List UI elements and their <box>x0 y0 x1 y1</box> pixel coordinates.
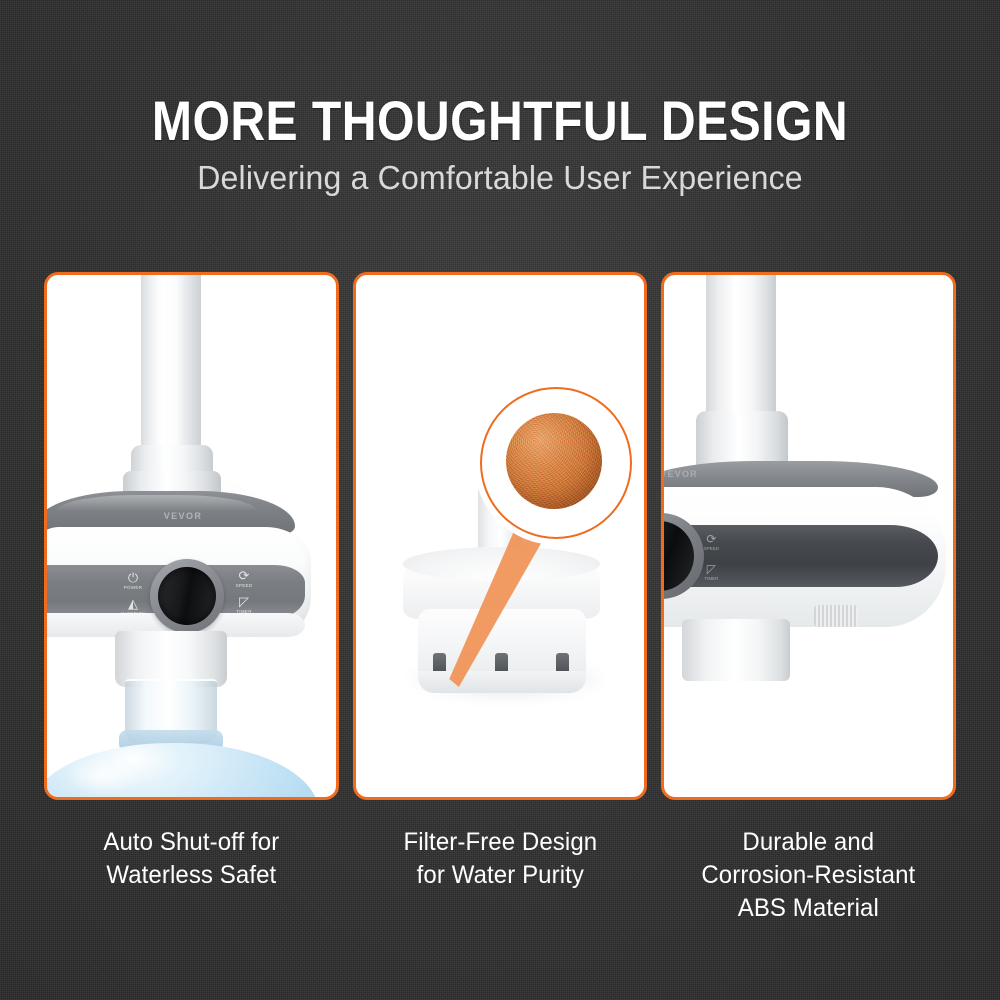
vent-grille <box>814 605 858 627</box>
page-subtitle: Delivering a Comfortable User Experience <box>15 159 985 197</box>
feature-panels: VEVOR ⏻ POWER ◭ HUMIDITY ⟳ SPEED <box>44 272 956 800</box>
power-label: POWER <box>116 585 150 591</box>
timer-label: TIMER <box>696 576 726 582</box>
speed-icon: ⟳ SPEED <box>227 569 261 589</box>
humidity-icon: ◭ HUMIDITY <box>116 597 150 617</box>
panel-abs-material: VEVOR ⟳ SPEED ◸ TIMER <box>661 272 956 800</box>
speed-glyph: ⟳ <box>227 569 261 583</box>
humidity-label: HUMIDITY <box>116 611 150 617</box>
base-bottom-lip <box>418 671 586 693</box>
caption-abs-material: Durable and Corrosion-Resistant ABS Mate… <box>667 826 950 925</box>
humidity-glyph: ◭ <box>116 597 150 611</box>
power-icon: ⏻ POWER <box>116 571 150 591</box>
product-image-filter-free <box>356 275 645 797</box>
brand-logo: VEVOR <box>151 511 215 523</box>
promo-banner: MORE THOUGHTFUL DESIGN Delivering a Comf… <box>0 0 1000 1000</box>
power-glyph: ⏻ <box>116 571 150 585</box>
speed-label: SPEED <box>227 583 261 589</box>
panel-auto-shutoff: VEVOR ⏻ POWER ◭ HUMIDITY ⟳ SPEED <box>44 272 339 800</box>
timer-glyph: ◸ <box>696 563 726 576</box>
speed-label: SPEED <box>696 546 726 552</box>
product-image-auto-shutoff: VEVOR ⏻ POWER ◭ HUMIDITY ⟳ SPEED <box>47 275 336 797</box>
caption-auto-shutoff: Auto Shut-off for Waterless Safet <box>50 826 333 925</box>
timer-icon: ◸ TIMER <box>227 595 261 615</box>
timer-label: TIMER <box>227 609 261 615</box>
speed-icon: ⟳ SPEED <box>696 533 726 552</box>
timer-icon: ◸ TIMER <box>696 563 726 582</box>
page-title: MORE THOUGHTFUL DESIGN <box>70 92 930 150</box>
dispenser-tube <box>141 275 201 471</box>
caption-filter-free: Filter-Free Design for Water Purity <box>359 826 642 925</box>
timer-glyph: ◸ <box>227 595 261 609</box>
lower-neck <box>682 619 790 681</box>
panel-filter-free <box>353 272 648 800</box>
tube-highlight <box>155 275 167 471</box>
brand-logo: VEVOR <box>664 469 730 481</box>
header: MORE THOUGHTFUL DESIGN Delivering a Comf… <box>0 92 1000 197</box>
feature-captions: Auto Shut-off for Waterless Safet Filter… <box>44 826 956 925</box>
product-image-abs-material: VEVOR ⟳ SPEED ◸ TIMER <box>664 275 953 797</box>
ceramic-element-closeup <box>506 413 602 509</box>
dispenser-tube <box>706 275 776 431</box>
speed-glyph: ⟳ <box>696 533 726 546</box>
water-jug-highlight <box>65 755 141 795</box>
control-dial <box>158 567 216 625</box>
